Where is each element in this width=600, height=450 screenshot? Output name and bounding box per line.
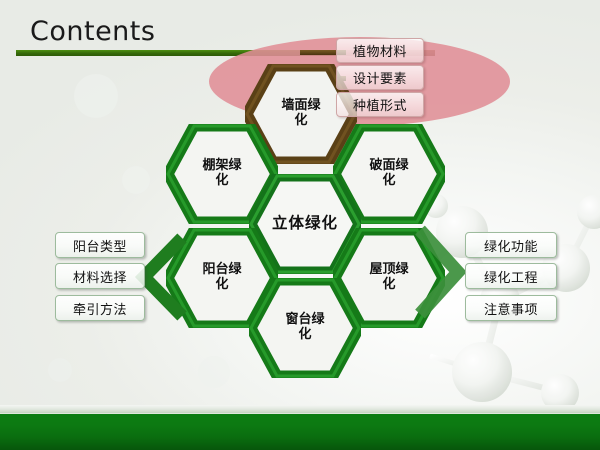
slide-canvas: Contents 墙面绿化 棚架绿化 破面绿化	[0, 0, 600, 450]
label-balcony-type[interactable]: 阳台类型	[55, 232, 145, 258]
label-precautions[interactable]: 注意事项	[465, 295, 557, 321]
label-planting-form[interactable]: 种植形式	[336, 92, 424, 117]
hexagon-label: 阳台绿化	[188, 263, 255, 292]
hexagon-label: 棚架绿化	[188, 159, 255, 188]
label-material-selection[interactable]: 材料选择	[55, 263, 145, 289]
hexagon-label: 屋顶绿化	[355, 263, 422, 292]
label-design-elements[interactable]: 设计要素	[336, 65, 424, 90]
hexagon-label: 墙面绿化	[267, 99, 334, 128]
label-greening-function[interactable]: 绿化功能	[465, 232, 557, 258]
hexagon-label: 破面绿化	[355, 159, 422, 188]
label-traction-method[interactable]: 牵引方法	[55, 295, 145, 321]
label-plant-material[interactable]: 植物材料	[336, 38, 424, 63]
hexagon-label: 立体绿化	[258, 215, 352, 232]
page-title: Contents	[30, 16, 155, 47]
hexagon-windowsill-greening[interactable]: 窗台绿化	[249, 278, 361, 378]
hexagon-label: 窗台绿化	[271, 313, 338, 342]
footer-bar	[0, 414, 600, 450]
label-greening-engineering[interactable]: 绿化工程	[465, 263, 557, 289]
